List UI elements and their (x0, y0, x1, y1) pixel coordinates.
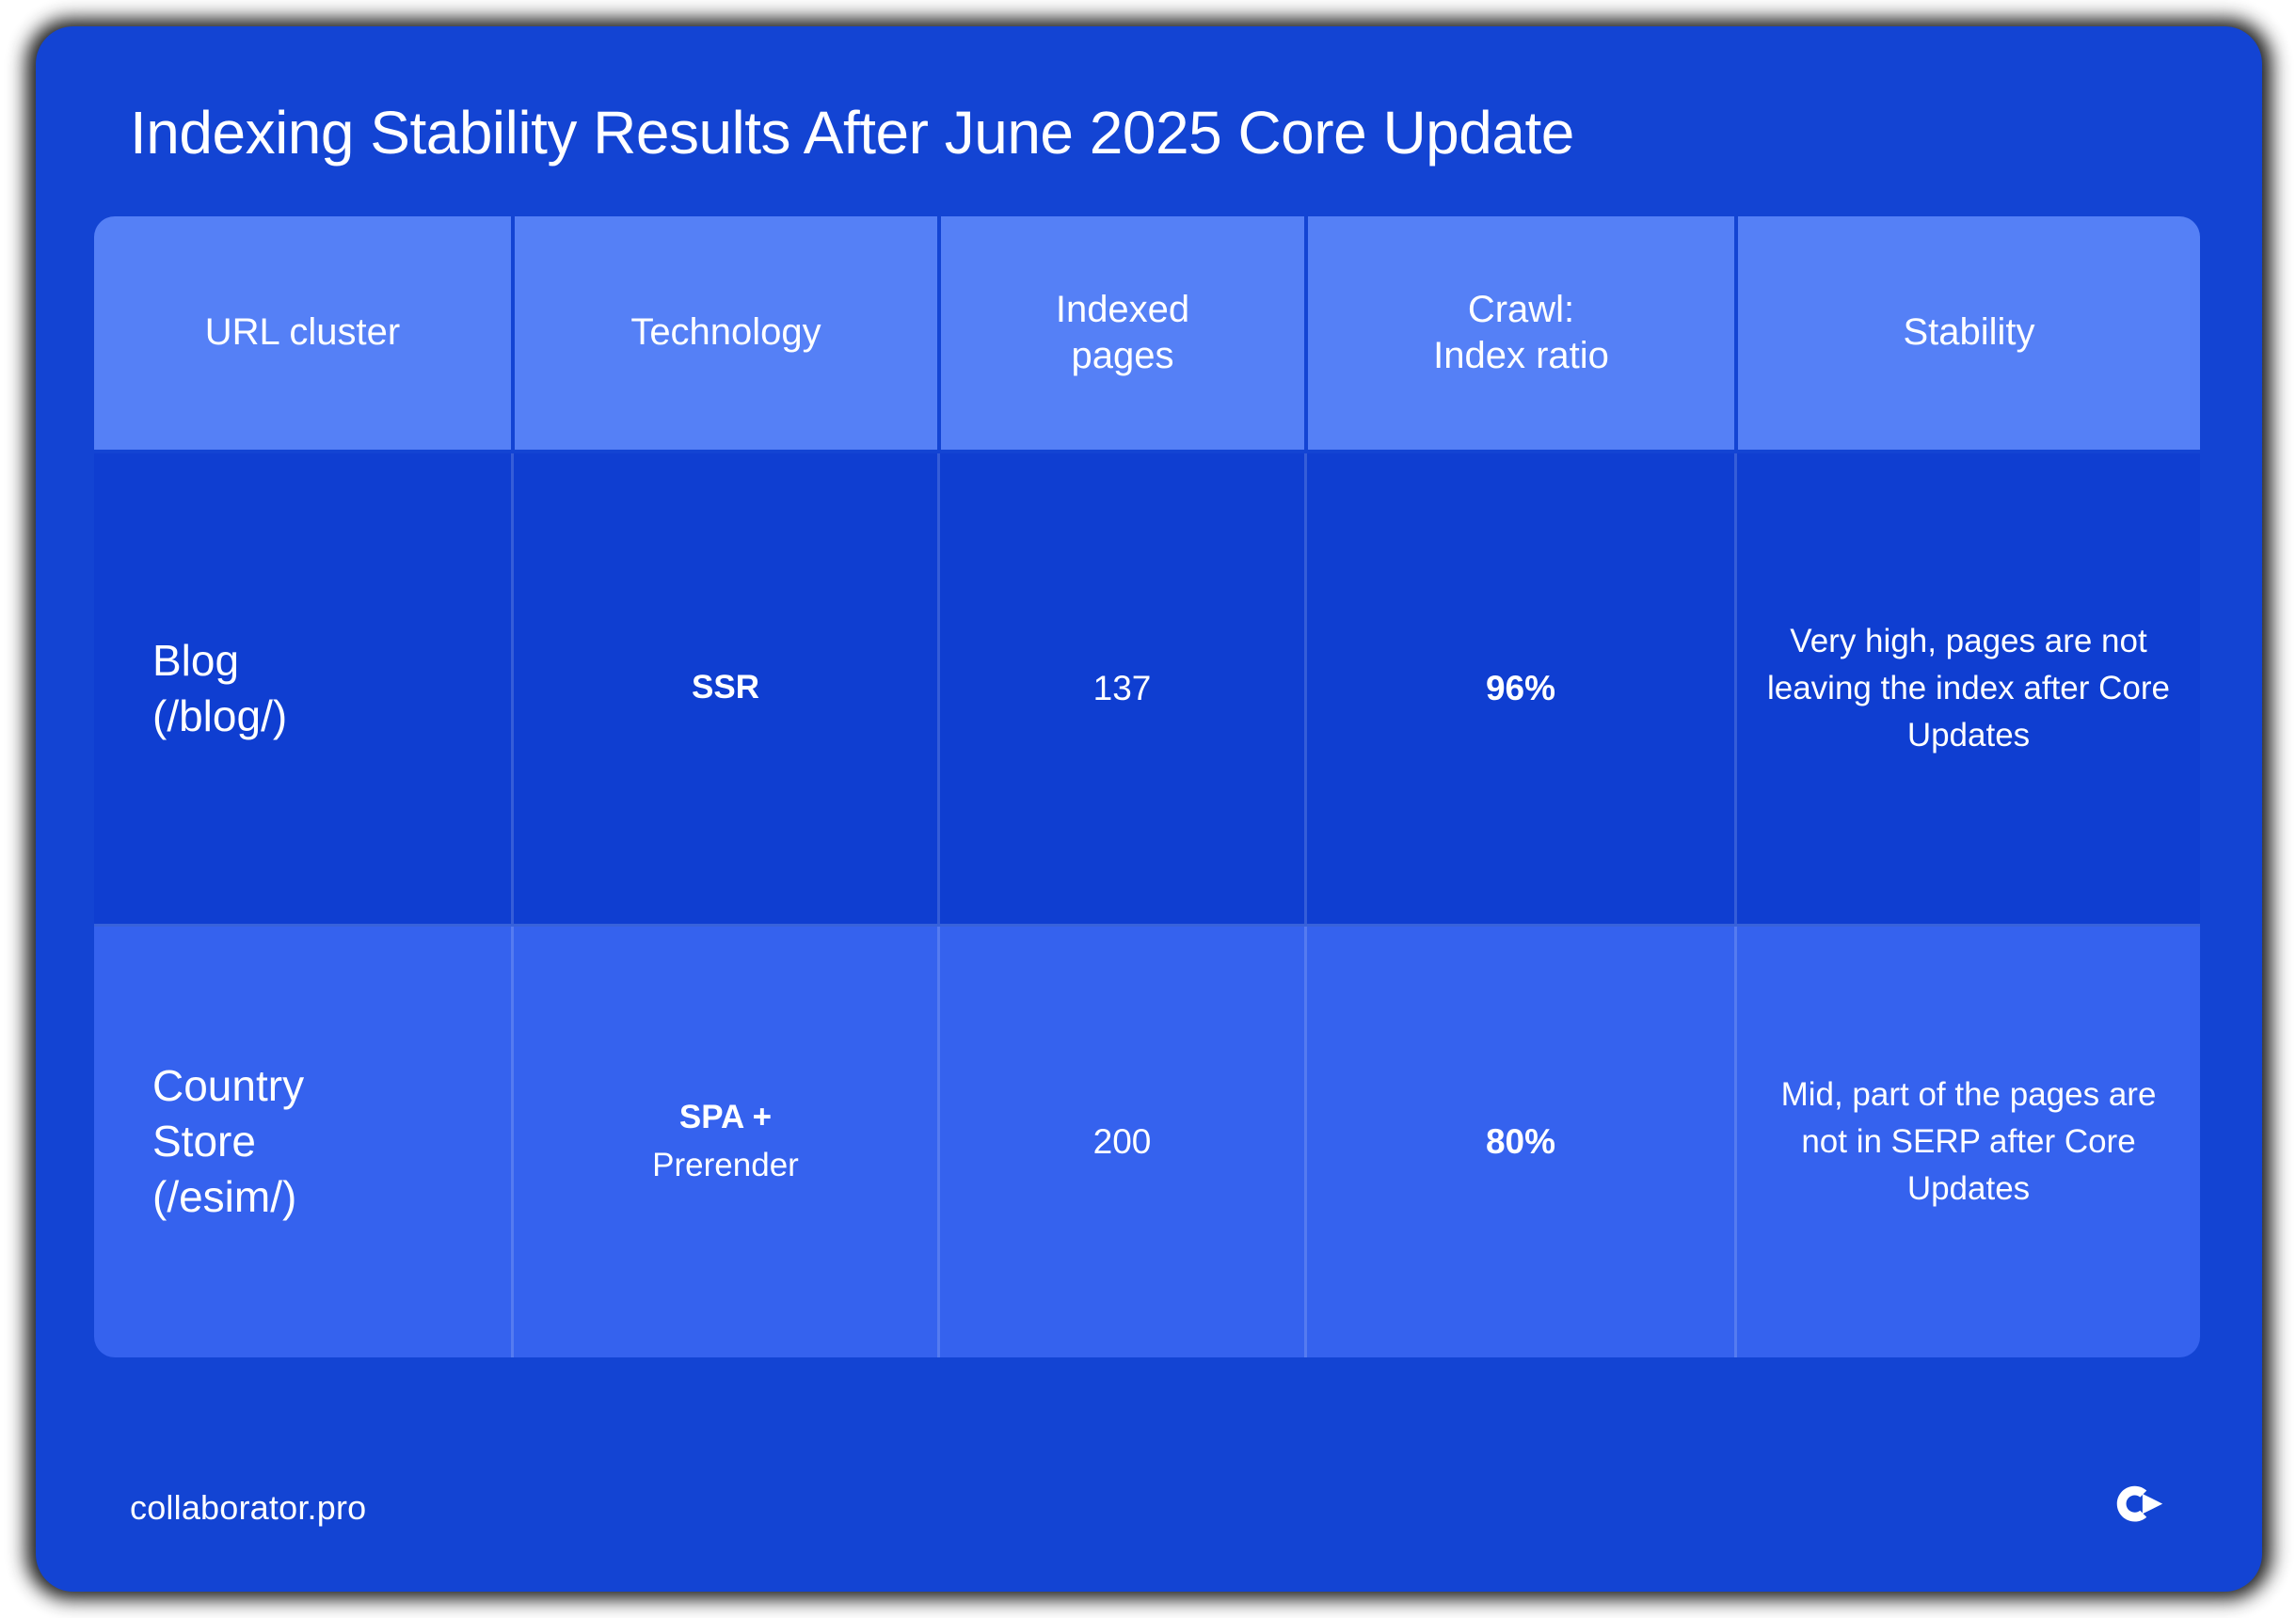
card-footer: collaborator.pro (130, 1479, 2168, 1537)
cell-stability: Very high, pages are not leaving the ind… (1734, 453, 2200, 924)
cell-url-cluster: Blog (/blog/) (94, 453, 511, 924)
cell-indexed-pages: 200 (937, 927, 1304, 1357)
crawl-ratio-line-2: Index ratio (1433, 335, 1609, 376)
column-header-indexed-pages-label: Indexed pages (1056, 287, 1189, 379)
technology-secondary: Prerender (652, 1142, 799, 1190)
url-cluster-line-2: (/blog/) (152, 691, 287, 740)
cell-technology: SSR (511, 453, 937, 924)
infographic-card: Indexing Stability Results After June 20… (36, 26, 2262, 1592)
column-header-url-cluster-label: URL cluster (205, 309, 400, 356)
column-header-technology-label: Technology (630, 309, 821, 356)
indexed-pages-line-1: Indexed (1056, 289, 1189, 330)
technology-primary: SSR (692, 664, 759, 712)
column-header-stability: Stability (1734, 216, 2200, 450)
column-header-indexed-pages: Indexed pages (937, 216, 1304, 450)
column-header-stability-label: Stability (1903, 309, 2034, 356)
indexed-pages-value: 200 (1093, 1116, 1152, 1168)
collaborator-logo-icon (2110, 1479, 2168, 1537)
cell-crawl-index-ratio: 80% (1304, 927, 1734, 1357)
cell-stability: Mid, part of the pages are not in SERP a… (1734, 927, 2200, 1357)
url-cluster-text: Country Store (/esim/) (152, 1058, 304, 1225)
column-header-url-cluster: URL cluster (94, 216, 511, 450)
column-header-technology: Technology (511, 216, 937, 450)
technology-primary: SPA + (679, 1094, 772, 1142)
table-header-row: URL cluster Technology Indexed pages Cra… (94, 216, 2200, 453)
stability-text: Mid, part of the pages are not in SERP a… (1758, 1071, 2179, 1212)
cell-technology: SPA + Prerender (511, 927, 937, 1357)
site-url: collaborator.pro (130, 1488, 366, 1528)
cell-url-cluster: Country Store (/esim/) (94, 927, 511, 1357)
page-title: Indexing Stability Results After June 20… (94, 79, 2204, 167)
crawl-index-ratio-value: 96% (1486, 662, 1555, 715)
indexed-pages-line-2: pages (1072, 335, 1174, 376)
indexed-pages-value: 137 (1093, 662, 1152, 715)
cell-indexed-pages: 137 (937, 453, 1304, 924)
column-header-crawl-index-ratio: Crawl: Index ratio (1304, 216, 1734, 450)
crawl-index-ratio-value: 80% (1486, 1116, 1555, 1168)
url-cluster-line-1: Country (152, 1061, 304, 1110)
url-cluster-line-2: Store (152, 1117, 256, 1166)
crawl-ratio-line-1: Crawl: (1468, 289, 1574, 330)
column-header-crawl-index-ratio-label: Crawl: Index ratio (1433, 287, 1609, 379)
url-cluster-line-1: Blog (152, 636, 239, 685)
table-row: Country Store (/esim/) SPA + Prerender 2… (94, 927, 2200, 1357)
cell-crawl-index-ratio: 96% (1304, 453, 1734, 924)
table-row: Blog (/blog/) SSR 137 96% Very high, pag… (94, 453, 2200, 927)
stability-text: Very high, pages are not leaving the ind… (1758, 618, 2179, 758)
screenshot-root: Indexing Stability Results After June 20… (0, 0, 2296, 1618)
url-cluster-line-3: (/esim/) (152, 1172, 296, 1221)
url-cluster-text: Blog (/blog/) (152, 633, 287, 744)
results-table: URL cluster Technology Indexed pages Cra… (94, 216, 2200, 1357)
